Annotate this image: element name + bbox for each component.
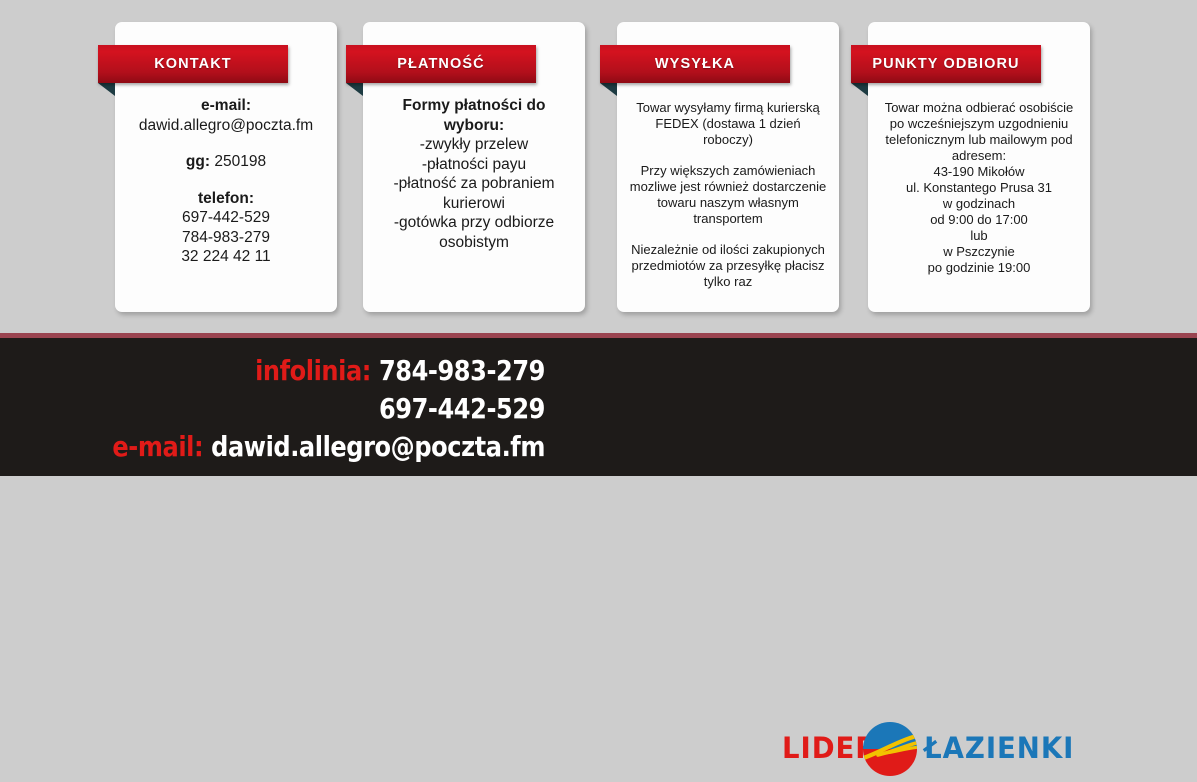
card-header-ribbon-punkty-odbioru: PUNKTY ODBIORU: [851, 45, 1041, 83]
footer-contact-label: infolinia:: [255, 354, 371, 387]
card-text-line: -zwykły przelew: [370, 135, 578, 155]
card-text-line: transportem: [624, 211, 832, 227]
card-text-line: dawid.allegro@poczta.fm: [122, 116, 330, 136]
ribbon-fold-shape: [600, 83, 617, 96]
card-text-line: tylko raz: [624, 274, 832, 290]
card-text-line: po wcześniejszym uzgodnieniu: [875, 116, 1083, 132]
card-body-kontakt: e-mail:dawid.allegro@poczta.fmgg: 250198…: [122, 96, 330, 267]
card-text-line: ul. Konstantego Prusa 31: [875, 180, 1083, 196]
card-text-line: Towar wysyłamy firmą kurierską: [624, 100, 832, 116]
info-card-punkty-odbioru: PUNKTY ODBIORUTowar można odbierać osobi…: [868, 22, 1090, 312]
card-text-line: e-mail:: [122, 96, 330, 116]
card-text-line: 43-190 Mikołów: [875, 164, 1083, 180]
card-text-spacer: [624, 227, 832, 242]
card-text-spacer: [122, 135, 330, 152]
logo-text-lazienki: ŁAZIENKI: [924, 731, 1074, 765]
card-text-line: gg: 250198: [122, 152, 330, 172]
lider-lazienki-circle-mark-icon: [862, 721, 918, 777]
card-text-line: -gotówka przy odbiorze: [370, 213, 578, 233]
ribbon-fold-shape: [851, 83, 868, 96]
card-text-line: przedmiotów za przesyłkę płacisz: [624, 258, 832, 274]
card-text-line: po godzinie 19:00: [875, 260, 1083, 276]
card-text-line: towaru naszym własnym: [624, 195, 832, 211]
card-body-platnosc: Formy płatności dowyboru:-zwykły przelew…: [370, 96, 578, 252]
ribbon-fold-shape: [98, 83, 115, 96]
card-title-platnosc: PŁATNOŚĆ: [346, 45, 536, 83]
card-text-line: wyboru:: [370, 116, 578, 136]
footer-contact-line: 697-442-529: [76, 390, 545, 428]
card-text-line: telefon:: [122, 189, 330, 209]
card-title-punkty-odbioru: PUNKTY ODBIORU: [851, 45, 1041, 83]
info-cards-area: KONTAKTe-mail:dawid.allegro@poczta.fmgg:…: [0, 0, 1197, 333]
card-text-line: lub: [875, 228, 1083, 244]
card-title-kontakt: KONTAKT: [98, 45, 288, 83]
card-text-label: gg:: [186, 153, 210, 170]
card-text-line: -płatności payu: [370, 155, 578, 175]
footer-contact-line: e-mail: dawid.allegro@poczta.fm: [76, 428, 545, 466]
card-text-line: w Pszczynie: [875, 244, 1083, 260]
card-text-line: mozliwe jest również dostarczenie: [624, 179, 832, 195]
card-text-line: Towar można odbierać osobiście: [875, 100, 1083, 116]
card-text-line: Formy płatności do: [370, 96, 578, 116]
card-text-line: kurierowi: [370, 194, 578, 214]
card-title-wysylka: WYSYŁKA: [600, 45, 790, 83]
card-header-ribbon-wysylka: WYSYŁKA: [600, 45, 790, 83]
card-text-line: 784-983-279: [122, 228, 330, 248]
card-text-spacer: [122, 172, 330, 189]
site-logo[interactable]: LIDER ŁAZIENKI: [782, 721, 1082, 777]
card-text-line: 32 224 42 11: [122, 247, 330, 267]
card-body-punkty-odbioru: Towar można odbierać osobiściepo wcześni…: [875, 100, 1083, 276]
info-card-wysylka: WYSYŁKATowar wysyłamy firmą kurierskąFED…: [617, 22, 839, 312]
card-text-line: adresem:: [875, 148, 1083, 164]
site-footer: infolinia: 784-983-279697-442-529e-mail:…: [0, 338, 1197, 476]
card-text-line: w godzinach: [875, 196, 1083, 212]
footer-contact-block: infolinia: 784-983-279697-442-529e-mail:…: [0, 352, 545, 466]
card-text-line: telefonicznym lub mailowym pod: [875, 132, 1083, 148]
card-text-line: 697-442-529: [122, 208, 330, 228]
card-text-line: od 9:00 do 17:00: [875, 212, 1083, 228]
footer-contact-value[interactable]: 697-442-529: [379, 392, 545, 425]
card-text-spacer: [624, 148, 832, 163]
card-text-line: FEDEX (dostawa 1 dzień: [624, 116, 832, 132]
footer-contact-value[interactable]: 784-983-279: [379, 354, 545, 387]
card-text-line: osobistym: [370, 233, 578, 253]
card-text-value: 250198: [210, 153, 266, 170]
card-header-ribbon-kontakt: KONTAKT: [98, 45, 288, 83]
footer-contact-label: e-mail:: [112, 430, 203, 463]
footer-contact-value[interactable]: dawid.allegro@poczta.fm: [211, 430, 545, 463]
ribbon-fold-shape: [346, 83, 363, 96]
card-body-wysylka: Towar wysyłamy firmą kurierskąFEDEX (dos…: [624, 100, 832, 290]
info-card-kontakt: KONTAKTe-mail:dawid.allegro@poczta.fmgg:…: [115, 22, 337, 312]
card-text-line: Przy większych zamówieniach: [624, 163, 832, 179]
card-text-line: Niezależnie od ilości zakupionych: [624, 242, 832, 258]
card-text-line: roboczy): [624, 132, 832, 148]
card-header-ribbon-platnosc: PŁATNOŚĆ: [346, 45, 536, 83]
footer-contact-line: infolinia: 784-983-279: [76, 352, 545, 390]
info-card-platnosc: PŁATNOŚĆFormy płatności dowyboru:-zwykły…: [363, 22, 585, 312]
card-text-line: -płatność za pobraniem: [370, 174, 578, 194]
